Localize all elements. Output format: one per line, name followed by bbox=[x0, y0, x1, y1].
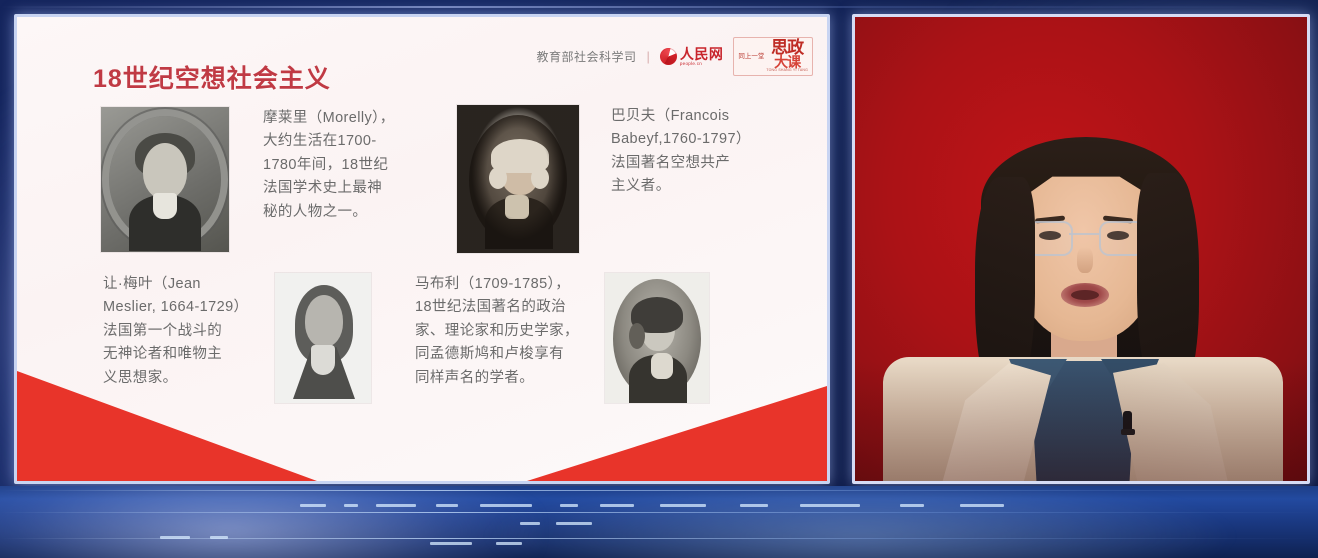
backdrop-streak bbox=[0, 6, 1318, 8]
slide-entry-babeuf: 巴贝夫（Francois Babeyf,1760-1797） 法国著名空想共产 … bbox=[457, 105, 771, 253]
desk-glow-right bbox=[480, 486, 1240, 558]
desk-dash bbox=[480, 504, 532, 507]
ministry-label: 教育部社会科学司 bbox=[536, 48, 636, 65]
entry-text-mably: 马布利（1709-1785）， 18世纪法国著名的政治 家、理论家和历史学家， … bbox=[415, 273, 591, 390]
slide-header: 教育部社会科学司 | 人民网 people.cn 同上一堂 思政 大课 bbox=[17, 17, 827, 73]
portrait-art bbox=[275, 273, 371, 403]
desk-highlight bbox=[0, 490, 1318, 491]
sizheng-wordmark: 思政 大课 TONG SHANG YI TANG bbox=[766, 40, 808, 73]
desk-dash bbox=[560, 504, 578, 507]
desk-glow-left bbox=[0, 486, 540, 558]
slide-entry-mably: 马布利（1709-1785）， 18世纪法国著名的政治 家、理论家和历史学家， … bbox=[415, 273, 709, 403]
desk-dash bbox=[556, 522, 592, 525]
broadcast-stage: 教育部社会科学司 | 人民网 people.cn 同上一堂 思政 大课 bbox=[0, 0, 1318, 558]
portrait-morelly bbox=[101, 107, 229, 252]
sizheng-course-logo: 同上一堂 思政 大课 TONG SHANG YI TANG bbox=[733, 37, 813, 76]
glasses-bridge bbox=[1069, 233, 1099, 235]
peoples-daily-logo: 人民网 people.cn bbox=[660, 47, 724, 67]
desk-dash bbox=[800, 504, 860, 507]
entry-text-babeuf: 巴贝夫（Francois Babeyf,1760-1797） 法国著名空想共产 … bbox=[611, 105, 771, 199]
desk-dash bbox=[496, 542, 522, 545]
desk-dash bbox=[600, 504, 634, 507]
desk-dash bbox=[436, 504, 458, 507]
sizheng-en: TONG SHANG YI TANG bbox=[766, 69, 808, 72]
desk-dash bbox=[430, 542, 472, 545]
speaker-nose bbox=[1077, 247, 1093, 273]
sizheng-line2: 大课 bbox=[774, 56, 800, 69]
slide-entry-meslier: 让·梅叶（Jean Meslier, 1664-1729） 法国第一个战斗的 无… bbox=[103, 273, 371, 403]
entry-text-morelly: 摩莱里（Morelly）， 大约生活在1700- 1780年间，18世纪 法国学… bbox=[263, 107, 453, 224]
presentation-slide-panel[interactable]: 教育部社会科学司 | 人民网 people.cn 同上一堂 思政 大课 bbox=[14, 14, 830, 484]
slide-title: 18世纪空想社会主义 bbox=[93, 59, 331, 95]
portrait-art bbox=[605, 273, 709, 403]
desk-highlight bbox=[0, 538, 1318, 539]
speaker-video-panel[interactable] bbox=[852, 14, 1310, 484]
sizheng-vertical-label: 同上一堂 bbox=[738, 53, 764, 60]
desk-highlight bbox=[0, 512, 1318, 513]
desk-dash bbox=[376, 504, 416, 507]
speaker-mouth-inner bbox=[1071, 290, 1099, 300]
desk-dash bbox=[740, 504, 768, 507]
peoples-daily-wordmark: 人民网 people.cn bbox=[680, 47, 724, 67]
header-separator: | bbox=[646, 49, 649, 64]
portrait-art bbox=[457, 105, 579, 253]
peoples-daily-en: people.cn bbox=[680, 62, 724, 67]
slide-entry-morelly: 摩莱里（Morelly）， 大约生活在1700- 1780年间，18世纪 法国学… bbox=[101, 107, 453, 252]
portrait-mably bbox=[605, 273, 709, 403]
desk-dash bbox=[960, 504, 1004, 507]
broadcast-desk-band bbox=[0, 486, 1318, 558]
desk-dash bbox=[660, 504, 706, 507]
portrait-meslier bbox=[275, 273, 371, 403]
desk-dash bbox=[344, 504, 358, 507]
lapel-microphone-clip bbox=[1121, 429, 1135, 435]
slide-canvas: 教育部社会科学司 | 人民网 people.cn 同上一堂 思政 大课 bbox=[17, 17, 827, 481]
desk-dash bbox=[520, 522, 540, 525]
speaker-figure bbox=[855, 81, 1307, 481]
portrait-babeuf bbox=[457, 105, 579, 253]
peoples-daily-cn: 人民网 bbox=[680, 47, 724, 61]
desk-dash bbox=[300, 504, 326, 507]
entry-text-meslier: 让·梅叶（Jean Meslier, 1664-1729） 法国第一个战斗的 无… bbox=[103, 273, 263, 390]
desk-dash bbox=[210, 536, 228, 539]
desk-dash bbox=[900, 504, 924, 507]
slide-header-logos: 教育部社会科学司 | 人民网 people.cn 同上一堂 思政 大课 bbox=[536, 37, 813, 76]
peoples-daily-mark-icon bbox=[660, 48, 677, 65]
portrait-art bbox=[101, 107, 229, 252]
desk-dash bbox=[160, 536, 190, 539]
